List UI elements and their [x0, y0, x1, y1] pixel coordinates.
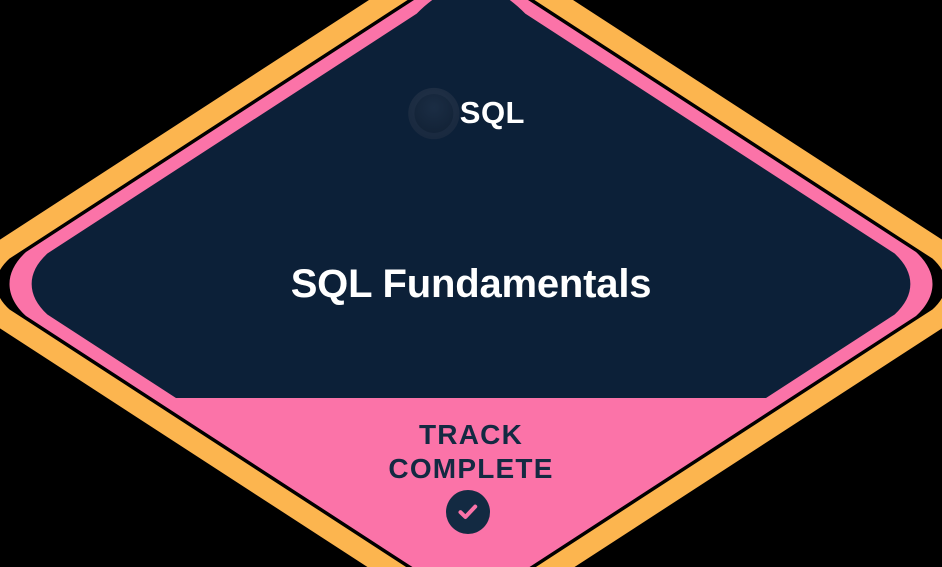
- track-completion-badge: SQL SQL Fundamentals TRACK COMPLETE: [0, 0, 942, 567]
- sql-emblem: SQL: [408, 55, 525, 172]
- emblem-label: SQL: [460, 97, 525, 128]
- status-line-complete: COMPLETE: [0, 452, 942, 486]
- check-icon: [455, 499, 481, 525]
- status-block: TRACK COMPLETE: [0, 418, 942, 486]
- emblem-ring-icon: [408, 55, 460, 172]
- completion-check-badge: [446, 490, 490, 534]
- badge-title: SQL Fundamentals: [0, 258, 942, 310]
- status-line-track: TRACK: [0, 418, 942, 452]
